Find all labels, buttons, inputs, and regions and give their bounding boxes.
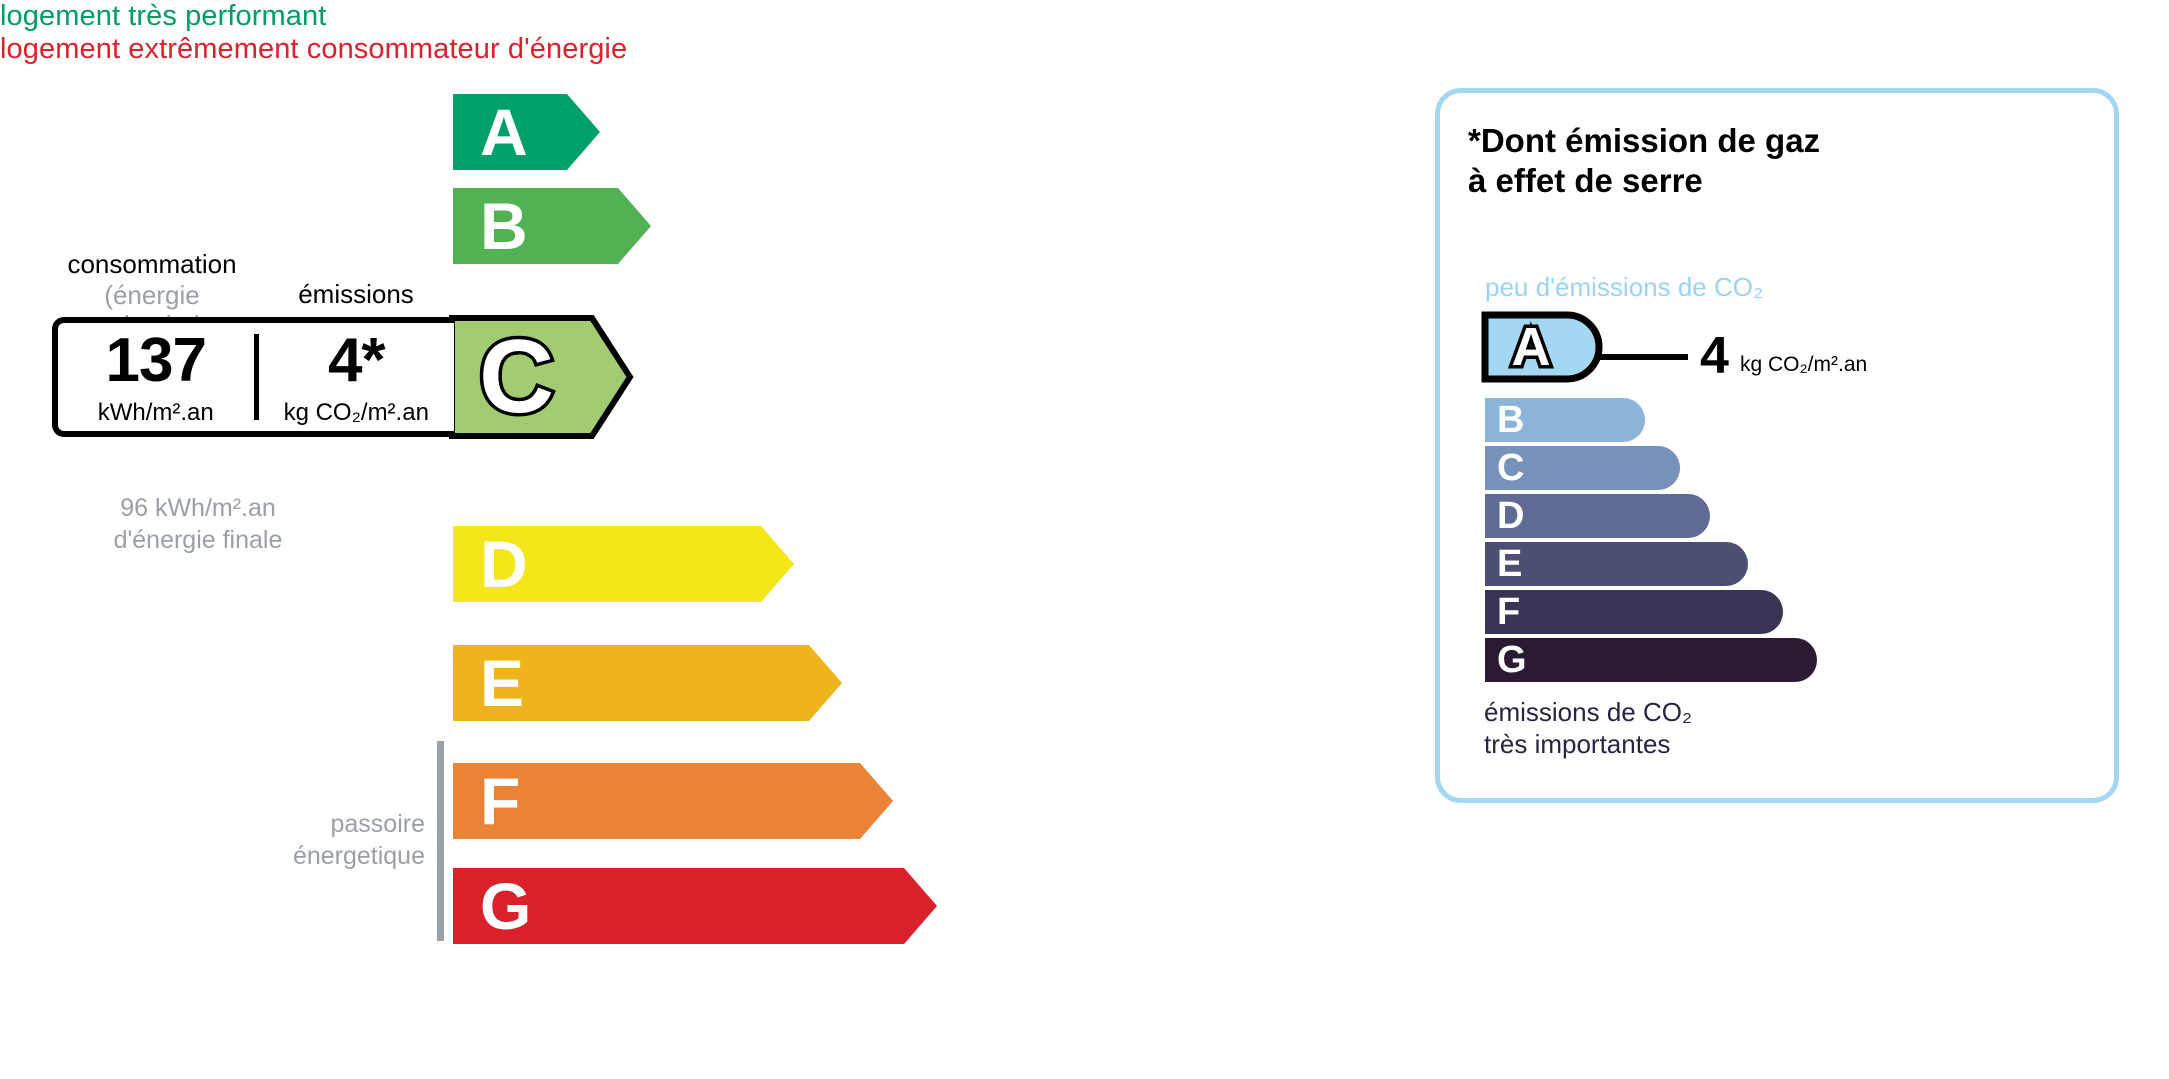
energy-class-row-e[interactable]: E	[453, 645, 842, 721]
passoire-label-line2: énergetique	[293, 842, 425, 870]
consumption-value: 137	[58, 330, 254, 392]
ges-class-letter-b: B	[1497, 401, 1524, 439]
energy-arrow-b-shape	[453, 188, 651, 264]
energy-arrow-f-shape	[453, 763, 893, 839]
energy-top-caption: logement très performant	[0, 0, 2169, 33]
ges-class-letter-c: C	[1497, 449, 1524, 487]
ges-class-letter-d: D	[1497, 497, 1524, 535]
energy-class-row-g[interactable]: G	[453, 868, 937, 944]
energy-class-row-a[interactable]: A	[453, 94, 600, 170]
energy-class-row-f[interactable]: F	[453, 763, 893, 839]
consumption-label-line1: consommation	[67, 249, 236, 279]
energy-arrow-d: D	[453, 526, 794, 602]
energy-arrow-c: C	[449, 315, 634, 439]
ges-bottom-caption: émissions de CO₂ très importantes	[1484, 696, 1692, 760]
energy-arrow-b: B	[453, 188, 651, 264]
ges-value: 4	[1700, 330, 1729, 382]
ges-top-caption: peu d'émissions de CO₂	[1485, 272, 1763, 303]
ges-bar-d: D	[1485, 494, 1710, 538]
ges-bar-f: F	[1485, 590, 1783, 634]
energy-arrow-a-shape	[453, 94, 600, 170]
ges-class-row-d[interactable]: D	[1485, 494, 1710, 538]
consumption-unit: kWh/m².an	[58, 401, 254, 425]
ges-bar-c: C	[1485, 446, 1680, 490]
final-energy-note: 96 kWh/m².an d'énergie finale	[68, 492, 328, 556]
ges-class-row-e[interactable]: E	[1485, 542, 1748, 586]
passoire-indicator-bar	[437, 741, 444, 941]
energy-class-row-b[interactable]: B	[453, 188, 651, 264]
energy-class-row-c[interactable]: C	[449, 315, 634, 439]
emissions-label: émissions	[258, 279, 454, 310]
ges-value-unit: kg CO₂/m².an	[1740, 353, 1867, 377]
energy-bottom-caption: logement extrêmement consommateur d'éner…	[0, 33, 2169, 66]
ges-class-letter-a: A	[1500, 316, 1562, 378]
emissions-value-cell: 4* kg CO₂/m².an	[259, 330, 455, 425]
ges-class-row-c[interactable]: C	[1485, 446, 1680, 490]
ges-bottom-caption-line2: très importantes	[1484, 729, 1670, 759]
energy-arrow-c-shape	[449, 315, 634, 439]
ges-class-row-g[interactable]: G	[1485, 638, 1817, 682]
energy-arrow-a: A	[453, 94, 600, 170]
final-energy-line1: 96 kWh/m².an	[120, 494, 276, 522]
energy-class-row-d[interactable]: D	[453, 526, 794, 602]
consumption-value-cell: 137 kWh/m².an	[58, 330, 254, 425]
ges-bar-g: G	[1485, 638, 1817, 682]
energy-arrow-e: E	[453, 645, 842, 721]
energy-arrow-f: F	[453, 763, 893, 839]
ges-class-letter-f: F	[1497, 593, 1520, 631]
energy-arrow-g-shape	[453, 868, 937, 944]
ges-connector-line	[1600, 354, 1688, 360]
ges-class-letter-g: G	[1497, 641, 1527, 679]
ges-bottom-caption-line1: émissions de CO₂	[1484, 697, 1692, 727]
ges-class-row-b[interactable]: B	[1485, 398, 1645, 442]
value-box: 137 kWh/m².an 4* kg CO₂/m².an	[52, 317, 454, 437]
ges-class-row-f[interactable]: F	[1485, 590, 1783, 634]
energy-arrow-d-shape	[453, 526, 794, 602]
final-energy-line2: d'énergie finale	[114, 526, 283, 554]
energy-arrow-g: G	[453, 868, 937, 944]
energy-arrow-e-shape	[453, 645, 842, 721]
ges-bar-e: E	[1485, 542, 1748, 586]
emissions-value: 4*	[259, 330, 455, 392]
ges-title-line2: à effet de serre	[1468, 162, 1703, 199]
emissions-unit: kg CO₂/m².an	[259, 401, 455, 425]
ges-class-letter-e: E	[1497, 545, 1522, 583]
ges-title-line1: *Dont émission de gaz	[1468, 122, 1820, 159]
dpe-label: logement très performant A B C	[0, 0, 2169, 1079]
ges-panel-title: *Dont émission de gaz à effet de serre	[1468, 121, 1820, 202]
ges-bar-b: B	[1485, 398, 1645, 442]
passoire-label: passoire énergetique	[260, 808, 425, 872]
passoire-label-line1: passoire	[331, 810, 426, 838]
